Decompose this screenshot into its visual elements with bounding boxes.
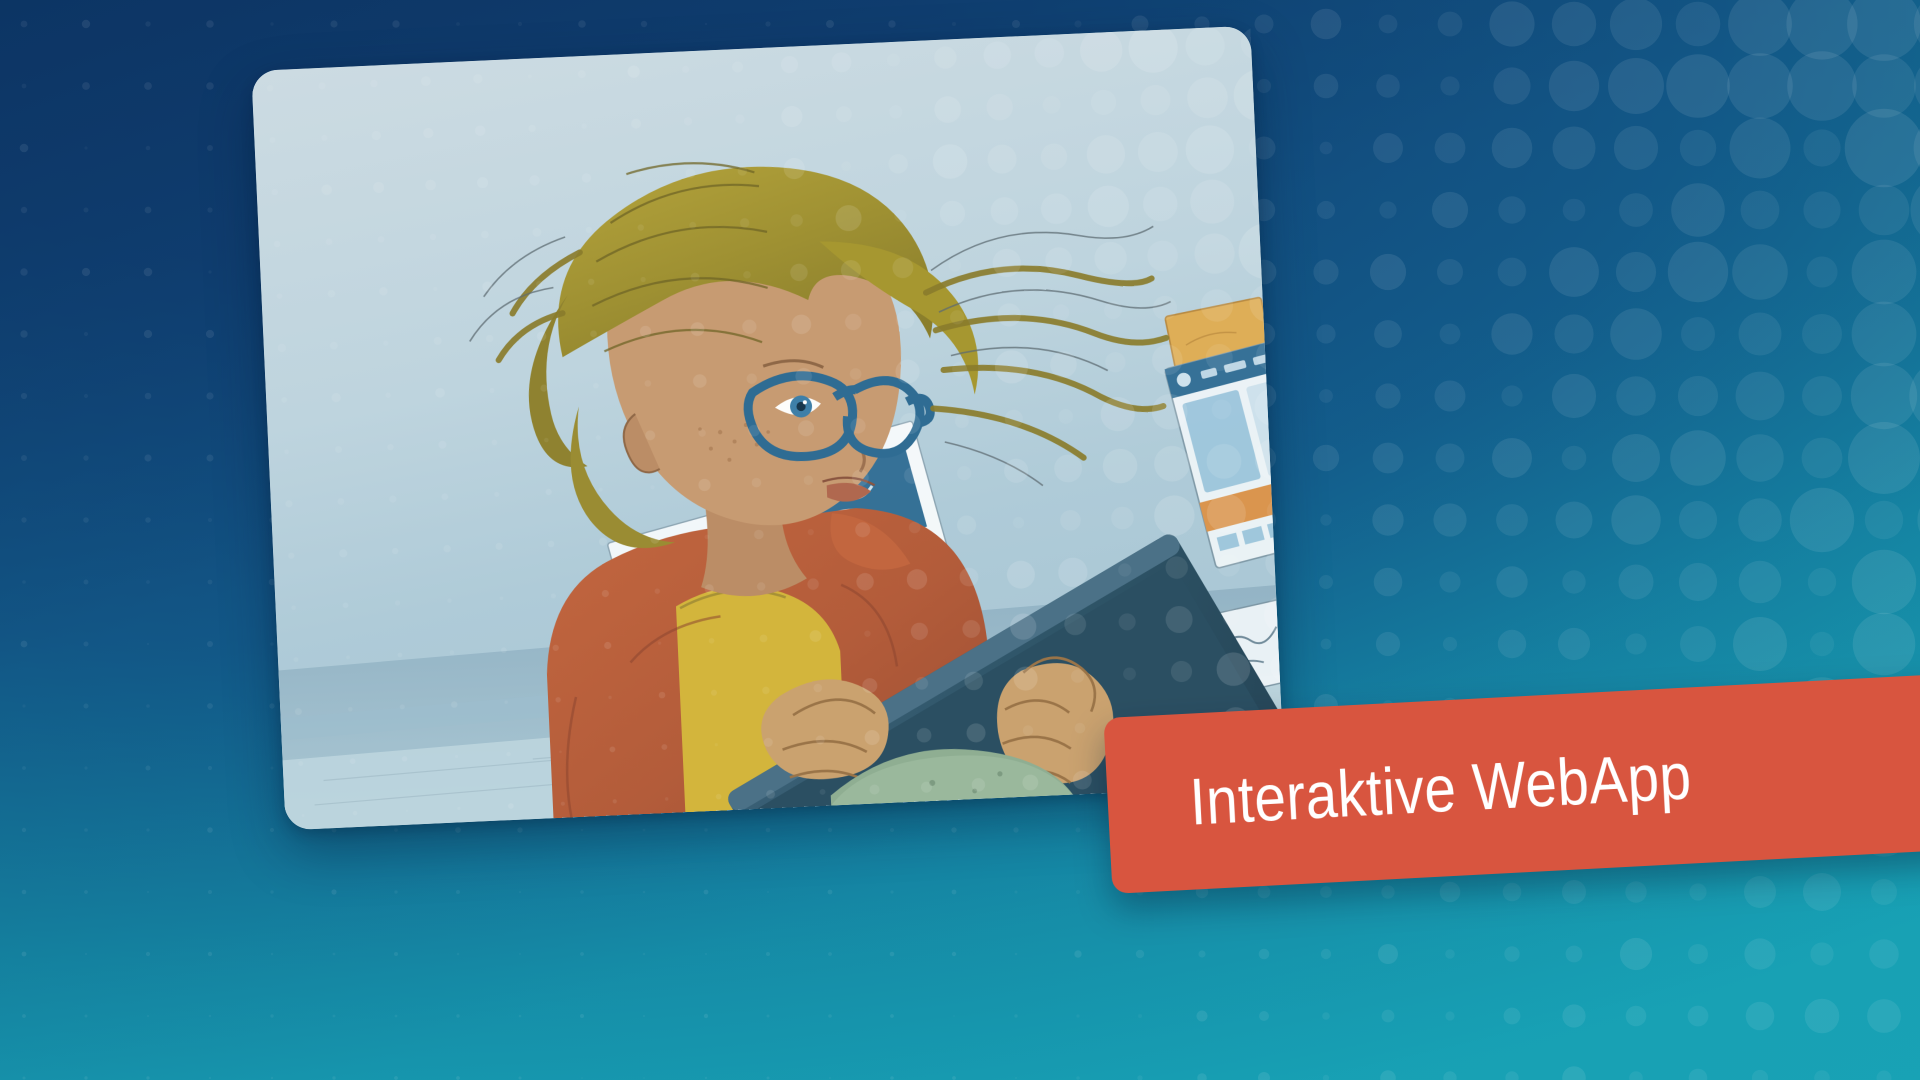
banner-label: Interaktive WebApp	[1188, 737, 1693, 839]
card-illustration: 1x1 1x4	[251, 26, 1284, 831]
hero-banner-scene: 1x1 1x4	[0, 0, 1920, 1080]
illustration-card: 1x1 1x4	[251, 26, 1284, 831]
